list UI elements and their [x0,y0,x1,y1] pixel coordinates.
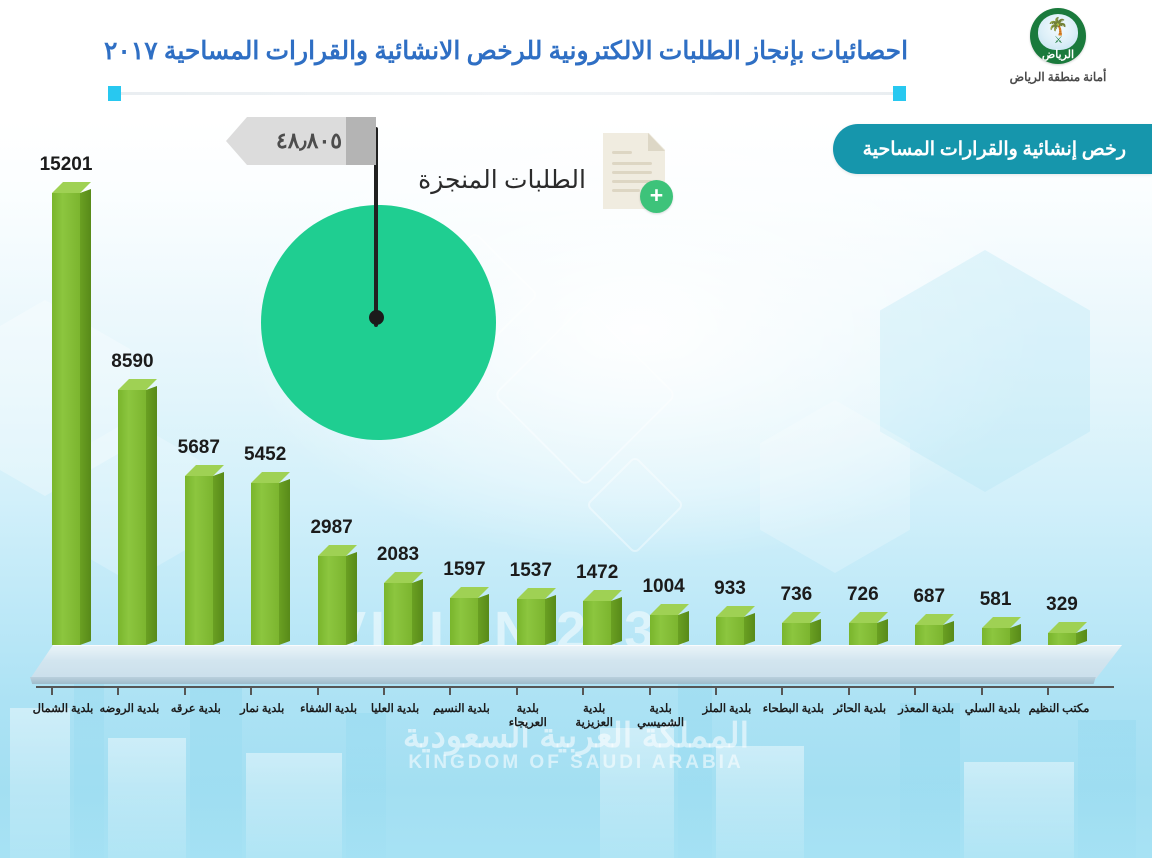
bar-series: 1520185905687545229872083159715371472100… [0,150,1152,680]
bar-group [118,390,146,645]
bar-front-face [650,615,678,645]
x-axis-tick [184,686,186,695]
x-axis-category-label: بلدية عرقه [165,702,227,716]
bar-group [52,193,80,645]
x-axis-tick [117,686,119,695]
bar-group [849,623,877,645]
x-axis-tick [516,686,518,695]
bar-front-face [716,617,744,645]
bar-front-face [517,599,545,645]
x-axis-category-label: بلدية نمار [231,702,293,716]
x-axis-tick [848,686,850,695]
palm-tree-icon: 🌴 [1047,18,1068,35]
bar-group [185,476,213,645]
page-title: احصائيات بإنجاز الطلبات الالكترونية للرخ… [96,36,916,66]
emblem-wordmark: الرياض [1030,48,1086,61]
x-axis-category-label: بلدية المعذر [895,702,957,716]
bar-side-face [545,595,556,645]
bar-group [251,483,279,645]
bar-value-label: 2987 [288,517,376,539]
bar-chart: 1520185905687545229872083159715371472100… [0,150,1152,710]
x-axis-tick [582,686,584,695]
bar-front-face [185,476,213,645]
organization-logo: 🌴 ⚔ الرياض أمانة منطقة الرياض [988,8,1128,85]
x-axis-tick [981,686,983,695]
bar-front-face [251,483,279,645]
x-axis-category-label: بلدية الحائر [829,702,891,716]
x-axis-tick [317,686,319,695]
bar-group [915,625,943,645]
bar-front-face [1048,633,1076,645]
x-axis-category-label: بلدية الروضه [98,702,160,716]
x-axis-tick [715,686,717,695]
x-axis-category-label: بلدية البطحاء [762,702,824,716]
logo-caption: أمانة منطقة الرياض [988,70,1128,85]
x-axis-tick [51,686,53,695]
bar-group [782,623,810,645]
bar-value-label: 329 [1018,594,1106,616]
infographic-page: VISION 2030 المملكة العربية السعودية KIN… [0,0,1152,858]
x-axis-tick [649,686,651,695]
x-axis-category-label: بلدية الشمال [32,702,94,716]
bar-group [583,601,611,645]
bar-front-face [450,598,478,645]
title-divider [112,92,902,95]
x-axis-tick [250,686,252,695]
bar-value-label: 15201 [22,154,110,176]
bar-side-face [810,619,821,645]
bar-value-label: 5452 [221,444,309,466]
bar-front-face [118,390,146,645]
bar-side-face [279,479,290,645]
x-axis-category-label: بلدية العليا [364,702,426,716]
x-axis-category-label: بلدية الشميسي [630,702,692,730]
bar-front-face [915,625,943,645]
bar-front-face [52,193,80,645]
x-axis-tick [449,686,451,695]
bar-group [650,615,678,645]
bar-side-face [744,613,755,645]
bar-side-face [678,611,689,645]
bar-side-face [1010,624,1021,645]
x-axis-category-label: بلدية النسيم [430,702,492,716]
bar-side-face [213,472,224,645]
bar-side-face [478,594,489,645]
x-axis-tick [914,686,916,695]
x-axis-tick [1047,686,1049,695]
bar-value-label: 8590 [88,351,176,373]
x-axis-category-label: بلدية الملز [696,702,758,716]
bar-side-face [146,386,157,645]
x-axis-category-label: بلدية العزيزية [563,702,625,730]
x-axis-line [36,686,1114,688]
riyadh-municipality-emblem-icon: 🌴 ⚔ الرياض [1030,8,1086,64]
bar-front-face [782,623,810,645]
bar-group [450,598,478,645]
watermark-english: KINGDOM OF SAUDI ARABIA [0,752,1152,774]
bar-side-face [611,597,622,645]
bar-side-face [412,579,423,645]
x-axis-category-label: بلدية السلي [962,702,1024,716]
bar-front-face [583,601,611,645]
x-axis-category-label: بلدية الشفاء [298,702,360,716]
bar-group [982,628,1010,645]
x-axis-tick [383,686,385,695]
bar-front-face [318,556,346,645]
bar-front-face [384,583,412,645]
bar-side-face [346,552,357,645]
bar-front-face [982,628,1010,645]
bar-group [716,617,744,645]
bar-side-face [943,621,954,645]
x-axis-category-label: مكتب النظيم [1028,702,1090,716]
crossed-swords-icon: ⚔ [1054,35,1062,46]
bar-front-face [849,623,877,645]
bar-side-face [1076,629,1087,645]
bar-group [517,599,545,645]
bar-side-face [877,619,888,645]
bar-group [318,556,346,645]
bar-group [384,583,412,645]
x-axis-tick [781,686,783,695]
x-axis-category-label: بلدية العريجاء [497,702,559,730]
bar-side-face [80,189,91,645]
bar-group [1048,633,1076,645]
